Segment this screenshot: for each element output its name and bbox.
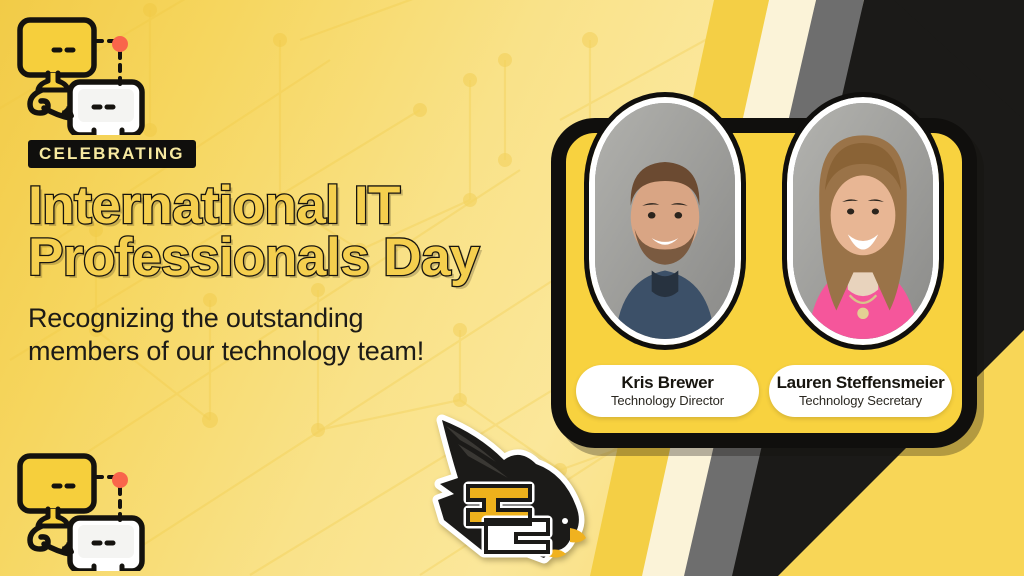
- two-monitors-network-icon: [8, 10, 158, 135]
- staff-name: Kris Brewer: [582, 373, 753, 392]
- avatar-lauren-steffensmeier: [787, 97, 939, 345]
- staff-name-row: Kris Brewer Technology Director Lauren S…: [576, 365, 952, 417]
- staff-name-pill: Lauren Steffensmeier Technology Secretar…: [769, 365, 952, 417]
- avatar-kris-brewer: [589, 97, 741, 345]
- portrait-photo: [595, 103, 735, 339]
- portrait-photo: [793, 103, 933, 339]
- page-subtitle-line1: Recognizing the outstanding: [28, 303, 363, 333]
- hawk-mascot-logo: [424, 400, 594, 568]
- celebrating-badge: CELEBRATING: [28, 140, 196, 168]
- page-title-line1: International IT: [28, 176, 400, 235]
- page-subtitle: Recognizing the outstanding members of o…: [28, 302, 548, 368]
- staff-photo-row: [566, 97, 962, 345]
- page-subtitle-line2: members of our technology team!: [28, 336, 424, 366]
- page-title: International IT Professionals Day: [28, 180, 548, 284]
- headline-block: CELEBRATING International IT Professiona…: [28, 140, 548, 368]
- two-monitors-network-icon-secondary: [8, 446, 158, 571]
- staff-name: Lauren Steffensmeier: [775, 373, 946, 392]
- staff-role: Technology Director: [582, 393, 753, 408]
- staff-card: Kris Brewer Technology Director Lauren S…: [551, 118, 977, 448]
- staff-role: Technology Secretary: [775, 393, 946, 408]
- page-title-line2: Professionals Day: [28, 232, 548, 284]
- poster-canvas: CELEBRATING International IT Professiona…: [0, 0, 1024, 576]
- staff-name-pill: Kris Brewer Technology Director: [576, 365, 759, 417]
